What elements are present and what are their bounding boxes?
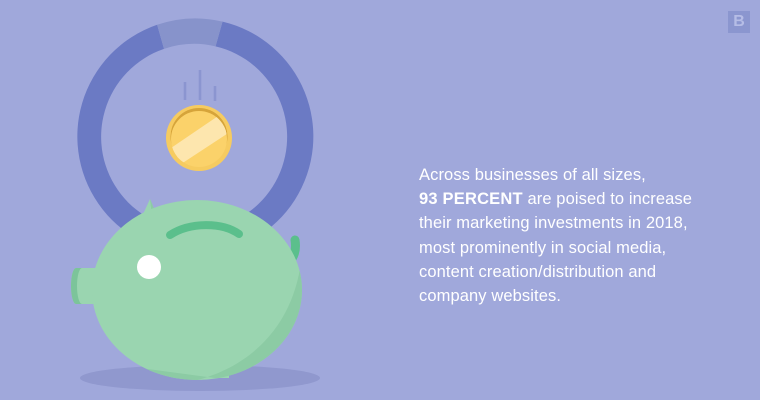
stat-after-emphasis: are poised to increase — [523, 190, 692, 208]
piggy-bank-donut-illustration — [0, 0, 400, 400]
brand-logo-badge[interactable]: B — [728, 11, 750, 33]
donut-segment-minor — [157, 18, 222, 48]
falling-coin — [166, 105, 233, 171]
infographic-canvas: B Across businesses of all sizes,93 PERC… — [0, 0, 760, 400]
coin-motion-lines — [185, 70, 215, 101]
stat-paragraph: Across businesses of all sizes,93 PERCEN… — [419, 163, 709, 308]
stat-line-1: Across businesses of all sizes, — [419, 166, 646, 184]
stat-copy-block: Across businesses of all sizes,93 PERCEN… — [419, 163, 709, 308]
stat-line-5: content creation/distribution and — [419, 263, 656, 281]
brand-logo-letter: B — [733, 14, 745, 30]
stat-line-3: their marketing investments in 2018, — [419, 214, 688, 232]
stat-line-6: company websites. — [419, 287, 561, 305]
stat-emphasis: 93 PERCENT — [419, 190, 523, 208]
stat-line-4: most prominently in social media, — [419, 239, 666, 257]
piggy-bank — [71, 199, 330, 392]
piggy-eye — [137, 255, 161, 279]
